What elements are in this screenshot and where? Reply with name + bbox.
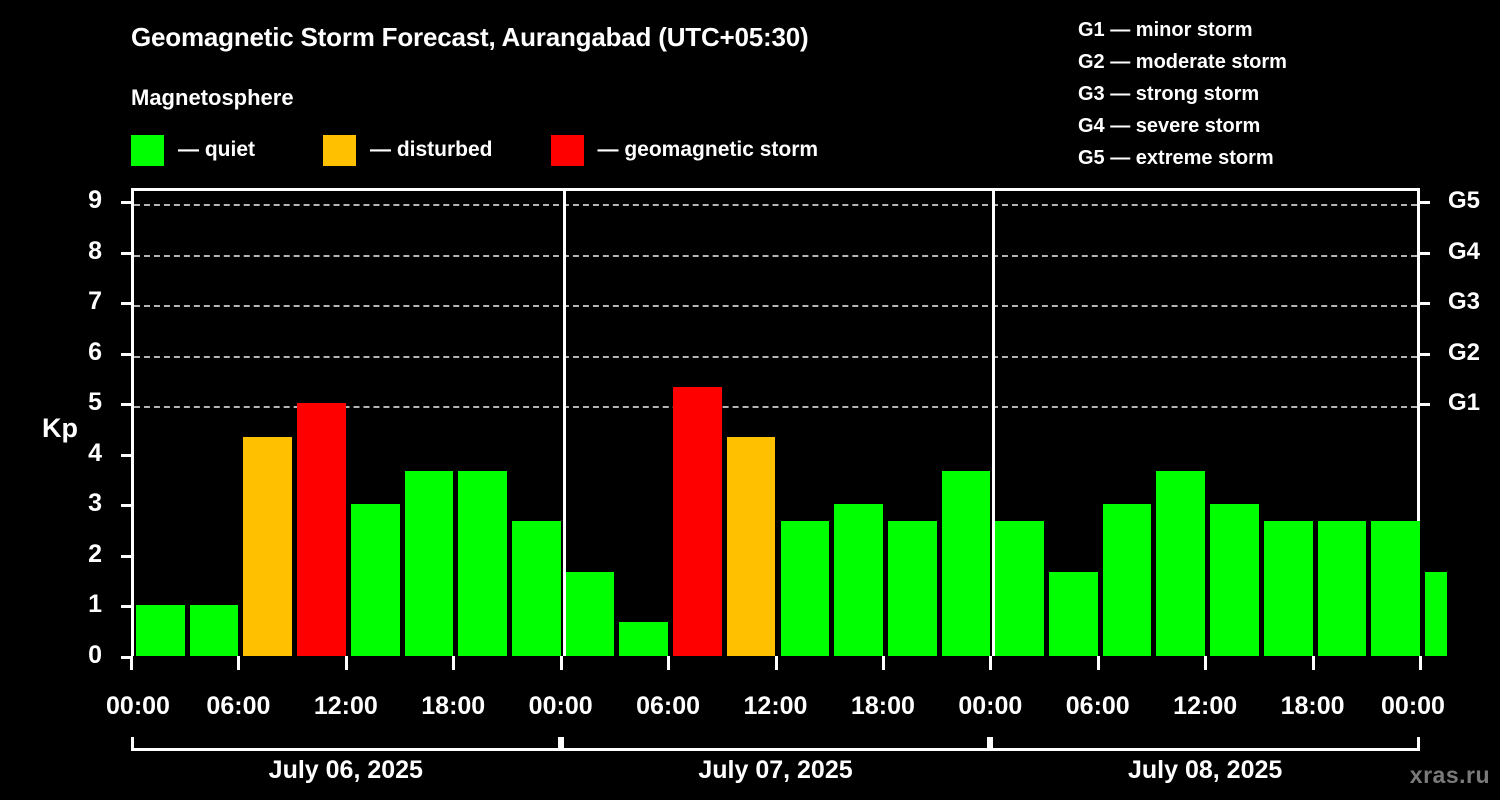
y-tick-mark xyxy=(121,302,131,305)
chart-root: Geomagnetic Storm Forecast, Aurangabad (… xyxy=(0,0,1500,800)
y-tick-mark xyxy=(121,403,131,406)
day-bracket xyxy=(131,737,561,751)
bar xyxy=(1425,572,1447,656)
x-tick-mark xyxy=(882,656,885,670)
g-tick-mark xyxy=(1420,403,1430,406)
x-tick-label: 12:00 xyxy=(1173,692,1237,721)
x-tick-label: 00:00 xyxy=(958,692,1022,721)
x-tick-mark xyxy=(1204,656,1207,670)
g-tick-label-g3: G3 xyxy=(1448,290,1480,314)
g-scale-item-g1: G1 — minor storm xyxy=(1078,14,1287,46)
gridline-kp-7 xyxy=(134,305,1417,307)
bar xyxy=(1156,471,1205,656)
g-tick-label-g1: G1 xyxy=(1448,391,1480,415)
bar xyxy=(1264,521,1313,656)
legend-item-storm: — geomagnetic storm xyxy=(551,135,819,166)
magnetosphere-legend: — quiet — disturbed — geomagnetic storm xyxy=(131,133,818,167)
page-title: Geomagnetic Storm Forecast, Aurangabad (… xyxy=(131,22,808,53)
g-tick-label-g4: G4 xyxy=(1448,240,1480,264)
bar xyxy=(1210,504,1259,656)
g-tick-mark xyxy=(1420,353,1430,356)
x-tick-mark xyxy=(1419,656,1422,670)
day-bracket xyxy=(561,737,991,751)
y-tick-label: 2 xyxy=(62,542,102,567)
green-square-swatch-icon xyxy=(131,135,164,166)
legend-label-disturbed: — disturbed xyxy=(370,138,493,162)
g-scale-item-g4: G4 — severe storm xyxy=(1078,110,1287,142)
y-axis-title: Kp xyxy=(42,413,78,444)
legend-label-storm: — geomagnetic storm xyxy=(598,138,819,162)
x-tick-mark xyxy=(1097,656,1100,670)
day-separator xyxy=(992,191,995,656)
bar xyxy=(834,504,883,656)
bar xyxy=(1103,504,1152,656)
day-label: July 06, 2025 xyxy=(269,756,423,785)
y-tick-mark xyxy=(121,605,131,608)
bar xyxy=(1318,521,1367,656)
bar xyxy=(243,437,292,656)
y-tick-mark xyxy=(121,454,131,457)
x-tick-mark xyxy=(989,656,992,670)
y-tick-mark xyxy=(121,353,131,356)
bar xyxy=(942,471,991,656)
x-tick-mark xyxy=(237,656,240,670)
x-tick-mark xyxy=(775,656,778,670)
y-tick-label: 6 xyxy=(62,340,102,365)
y-tick-label: 5 xyxy=(62,390,102,415)
plot-area xyxy=(131,188,1420,656)
x-tick-mark xyxy=(667,656,670,670)
y-tick-mark xyxy=(121,555,131,558)
y-tick-mark xyxy=(121,201,131,204)
day-bracket xyxy=(990,737,1420,751)
bar xyxy=(512,521,561,656)
x-tick-label: 18:00 xyxy=(1281,692,1345,721)
y-tick-label: 1 xyxy=(62,592,102,617)
x-tick-label: 06:00 xyxy=(206,692,270,721)
orange-square-swatch-icon xyxy=(323,135,356,166)
gridline-kp-6 xyxy=(134,356,1417,358)
plot-inner xyxy=(134,191,1417,656)
x-tick-label: 00:00 xyxy=(529,692,593,721)
y-tick-label: 4 xyxy=(62,441,102,466)
g-tick-label-g2: G2 xyxy=(1448,341,1480,365)
y-tick-label: 8 xyxy=(62,239,102,264)
x-tick-mark xyxy=(1312,656,1315,670)
x-tick-label: 06:00 xyxy=(636,692,700,721)
watermark: xras.ru xyxy=(1410,762,1490,789)
red-square-swatch-icon xyxy=(551,135,584,166)
g-scale-item-g5: G5 — extreme storm xyxy=(1078,142,1287,174)
bar xyxy=(1049,572,1098,656)
bar xyxy=(619,622,668,656)
x-tick-label: 18:00 xyxy=(851,692,915,721)
gridline-kp-9 xyxy=(134,204,1417,206)
x-tick-mark xyxy=(345,656,348,670)
g-scale-item-g3: G3 — strong storm xyxy=(1078,78,1287,110)
bar xyxy=(888,521,937,656)
bar xyxy=(673,387,722,656)
g-tick-label-g5: G5 xyxy=(1448,189,1480,213)
bar xyxy=(781,521,830,656)
bar xyxy=(297,403,346,656)
bar xyxy=(136,605,185,656)
legend-item-quiet: — quiet xyxy=(131,135,255,166)
bar xyxy=(727,437,776,656)
g-tick-mark xyxy=(1420,201,1430,204)
x-tick-mark xyxy=(130,656,133,670)
x-tick-label: 12:00 xyxy=(314,692,378,721)
bar xyxy=(190,605,239,656)
magnetosphere-label: Magnetosphere xyxy=(131,85,294,111)
y-tick-label: 3 xyxy=(62,491,102,516)
y-tick-mark xyxy=(121,252,131,255)
gridline-kp-8 xyxy=(134,255,1417,257)
y-tick-mark xyxy=(121,504,131,507)
bar xyxy=(566,572,615,656)
day-label: July 08, 2025 xyxy=(1128,756,1282,785)
g-tick-mark xyxy=(1420,302,1430,305)
x-tick-label: 00:00 xyxy=(106,692,170,721)
g-scale-legend: G1 — minor storm G2 — moderate storm G3 … xyxy=(1078,14,1287,174)
y-tick-label: 0 xyxy=(62,643,102,668)
x-tick-mark xyxy=(452,656,455,670)
bar xyxy=(995,521,1044,656)
x-tick-label: 00:00 xyxy=(1381,692,1445,721)
y-tick-label: 9 xyxy=(62,188,102,213)
bar xyxy=(405,471,454,656)
bar xyxy=(458,471,507,656)
x-tick-label: 12:00 xyxy=(744,692,808,721)
x-tick-label: 18:00 xyxy=(421,692,485,721)
x-tick-label: 06:00 xyxy=(1066,692,1130,721)
day-label: July 07, 2025 xyxy=(698,756,852,785)
g-tick-mark xyxy=(1420,252,1430,255)
legend-item-disturbed: — disturbed xyxy=(323,135,493,166)
bar xyxy=(351,504,400,656)
day-separator xyxy=(563,191,566,656)
bar xyxy=(1371,521,1420,656)
legend-label-quiet: — quiet xyxy=(178,138,255,162)
g-scale-item-g2: G2 — moderate storm xyxy=(1078,46,1287,78)
x-tick-mark xyxy=(560,656,563,670)
y-tick-label: 7 xyxy=(62,289,102,314)
